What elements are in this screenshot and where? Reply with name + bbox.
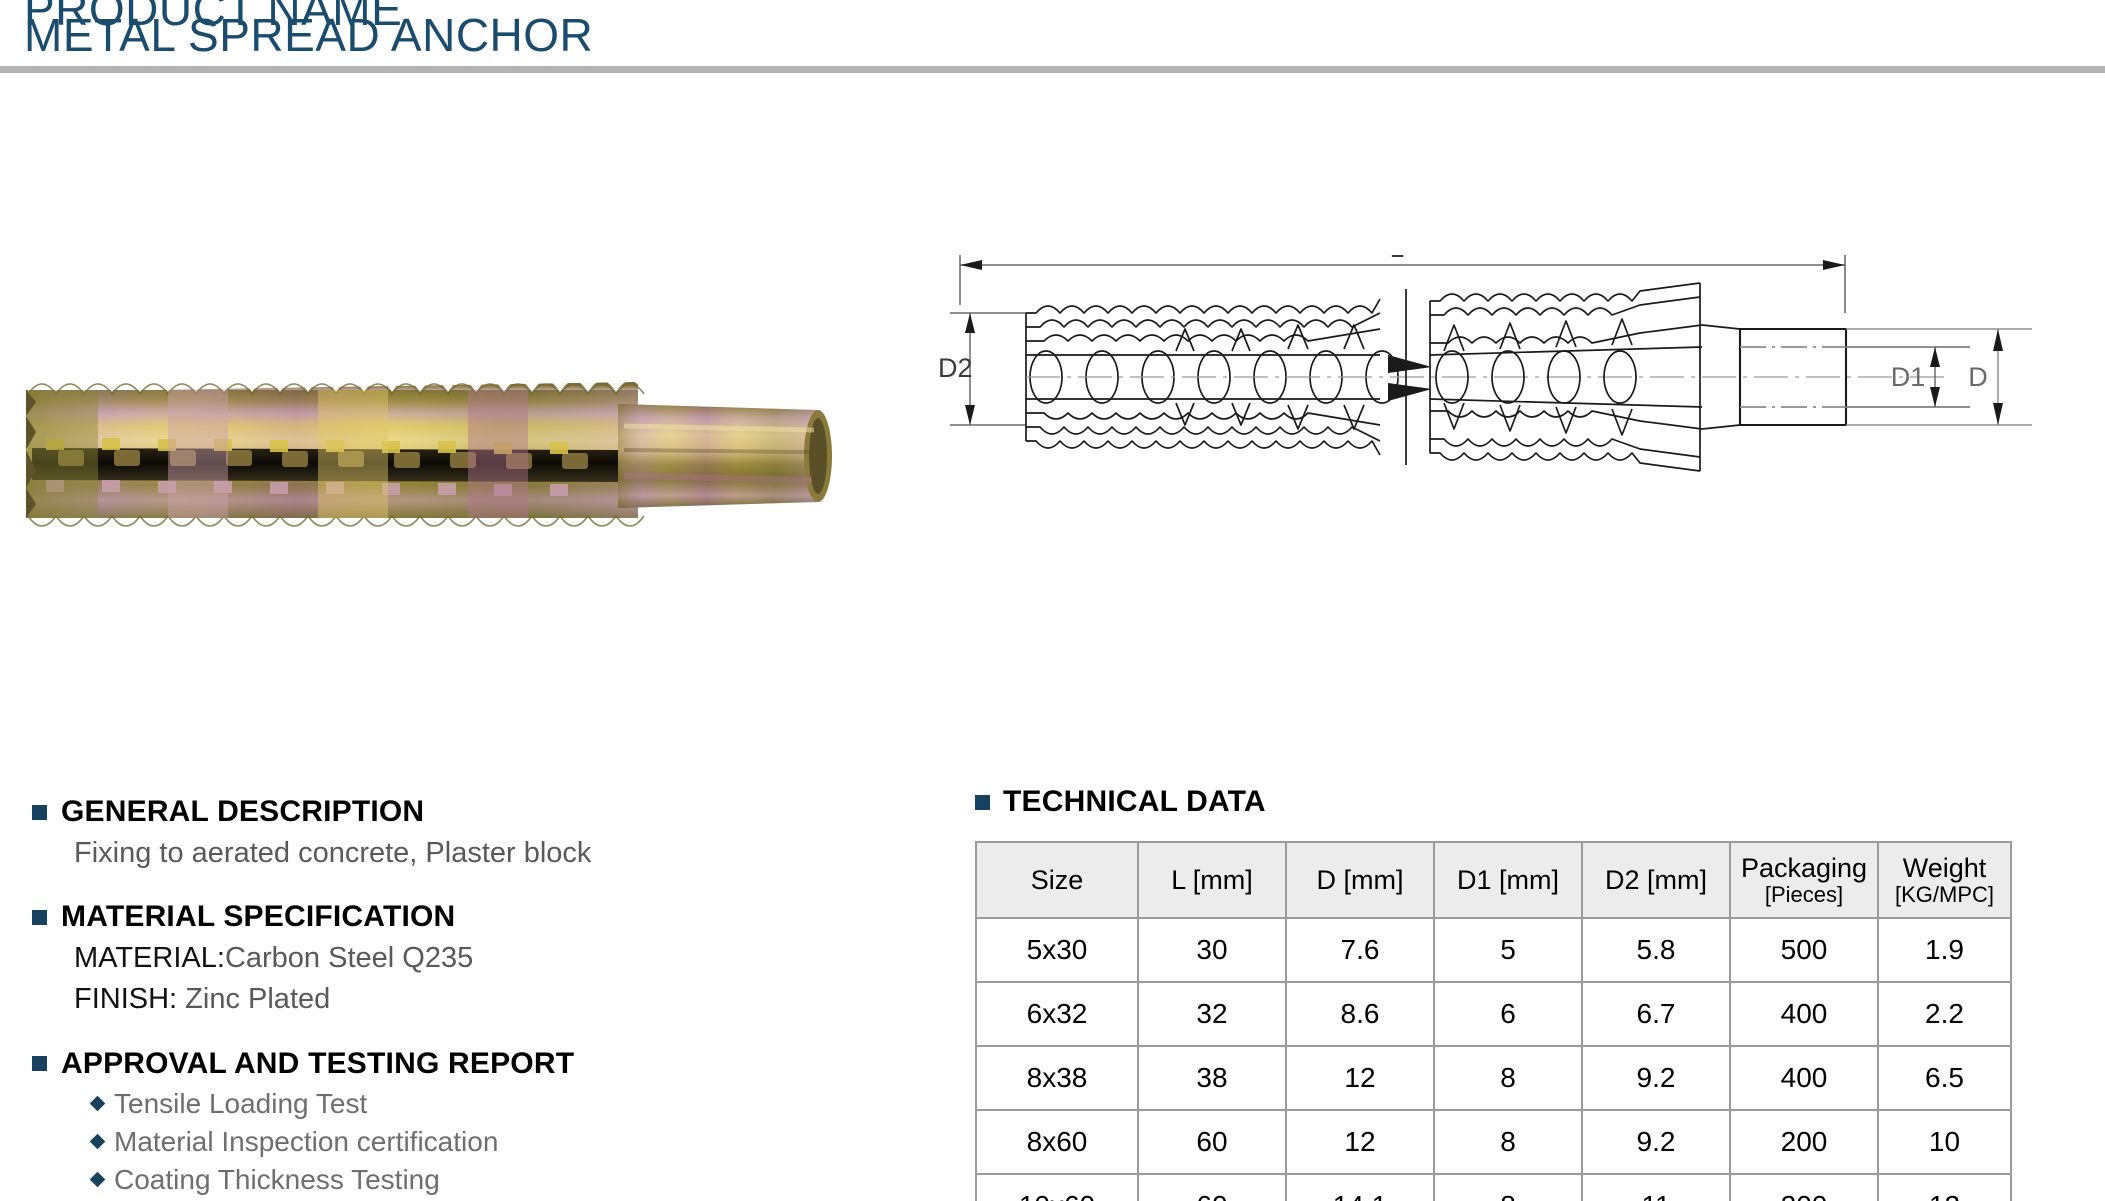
cell-d2: 5.8 (1582, 918, 1730, 982)
section-general-description: GENERAL DESCRIPTION Fixing to aerated co… (32, 795, 912, 874)
diamond-bullet-icon (90, 1172, 106, 1188)
diamond-bullet-icon (90, 1096, 106, 1112)
table-row: 10x60 60 14.1 8 11 200 12 (976, 1174, 2011, 1201)
page-title: METAL SPREAD ANCHOR (24, 8, 593, 62)
cell-l: 38 (1138, 1046, 1286, 1110)
col-header-unit: [Pieces] (1733, 883, 1875, 908)
list-item-label: Material Inspection certification (114, 1123, 498, 1161)
cell-size: 6x32 (976, 982, 1138, 1046)
table-header-row: Size L [mm] D [mm] D1 [mm] D2 [mm] (976, 842, 2011, 918)
cell-d2: 9.2 (1582, 1046, 1730, 1110)
cell-d2: 11 (1582, 1174, 1730, 1201)
section-material-specification: MATERIAL SPECIFICATION MATERIAL:Carbon S… (32, 900, 912, 1020)
cell-l: 32 (1138, 982, 1286, 1046)
square-bullet-icon (32, 805, 47, 820)
material-line: MATERIAL:Carbon Steel Q235 (74, 938, 912, 979)
cell-d1: 5 (1434, 918, 1582, 982)
section-approval-testing: APPROVAL AND TESTING REPORT Tensile Load… (32, 1047, 912, 1199)
cell-size: 8x60 (976, 1110, 1138, 1174)
cell-d2: 9.2 (1582, 1110, 1730, 1174)
section-title: GENERAL DESCRIPTION (61, 795, 424, 829)
cell-packaging: 200 (1730, 1110, 1878, 1174)
section-header: APPROVAL AND TESTING REPORT (32, 1047, 912, 1081)
col-header-packaging: Packaging [Pieces] (1730, 842, 1878, 918)
header-divider (0, 66, 2105, 73)
dim-label-D2: D2 (940, 353, 973, 383)
dim-label-L: L (1390, 255, 1404, 263)
section-title: MATERIAL SPECIFICATION (61, 900, 455, 934)
cell-weight: 2.2 (1878, 982, 2011, 1046)
list-item: Material Inspection certification (92, 1123, 912, 1161)
material-value: Carbon Steel Q235 (225, 942, 473, 974)
diamond-bullet-icon (90, 1134, 106, 1150)
col-header-label: D2 [mm] (1605, 865, 1707, 895)
cell-d: 12 (1286, 1046, 1434, 1110)
square-bullet-icon (32, 910, 47, 925)
col-header-unit: [KG/MPC] (1881, 883, 2008, 908)
col-header-size: Size (976, 842, 1138, 918)
col-header-label: Packaging (1741, 853, 1867, 883)
cell-size: 5x30 (976, 918, 1138, 982)
col-header-d2: D2 [mm] (1582, 842, 1730, 918)
cell-d: 8.6 (1286, 982, 1434, 1046)
table-row: 6x32 32 8.6 6 6.7 400 2.2 (976, 982, 2011, 1046)
list-item-label: Tensile Loading Test (114, 1085, 367, 1123)
square-bullet-icon (32, 1056, 47, 1071)
col-header-label: Size (1031, 865, 1084, 895)
square-bullet-icon (975, 795, 990, 810)
cell-l: 60 (1138, 1110, 1286, 1174)
material-label: MATERIAL: (74, 942, 225, 974)
product-info-column: GENERAL DESCRIPTION Fixing to aerated co… (32, 795, 912, 1199)
cell-l: 60 (1138, 1174, 1286, 1201)
cell-size: 8x38 (976, 1046, 1138, 1110)
finish-label: FINISH: (74, 983, 177, 1015)
finish-line: FINISH: Zinc Plated (74, 979, 912, 1020)
cell-d1: 8 (1434, 1174, 1582, 1201)
cell-weight: 10 (1878, 1110, 2011, 1174)
cell-packaging: 200 (1730, 1174, 1878, 1201)
list-item: Coating Thickness Testing (92, 1161, 912, 1199)
general-description-text: Fixing to aerated concrete, Plaster bloc… (74, 833, 912, 874)
technical-data-header: TECHNICAL DATA (975, 785, 2065, 819)
product-photo (18, 330, 858, 560)
col-header-label: Weight (1903, 853, 1987, 883)
cell-d1: 8 (1434, 1046, 1582, 1110)
cell-packaging: 500 (1730, 918, 1878, 982)
list-item: Tensile Loading Test (92, 1085, 912, 1123)
cell-packaging: 400 (1730, 982, 1878, 1046)
cell-weight: 12 (1878, 1174, 2011, 1201)
cell-d1: 6 (1434, 982, 1582, 1046)
col-header-label: D1 [mm] (1457, 865, 1559, 895)
material-spec-body: MATERIAL:Carbon Steel Q235 FINISH: Zinc … (74, 938, 912, 1020)
section-header: GENERAL DESCRIPTION (32, 795, 912, 829)
cell-d: 7.6 (1286, 918, 1434, 982)
col-header-label: L [mm] (1171, 865, 1253, 895)
col-header-l: L [mm] (1138, 842, 1286, 918)
anchor-body (26, 372, 644, 545)
cell-d1: 8 (1434, 1110, 1582, 1174)
datasheet-page: PRODUCT NAME METAL SPREAD ANCHOR (0, 0, 2105, 1201)
technical-data-table: Size L [mm] D [mm] D1 [mm] D2 [mm] (975, 841, 2012, 1201)
cell-d2: 6.7 (1582, 982, 1730, 1046)
cell-d: 12 (1286, 1110, 1434, 1174)
table-row: 5x30 30 7.6 5 5.8 500 1.9 (976, 918, 2011, 982)
dim-label-D1: D1 (1891, 362, 1926, 392)
anchor-collar (618, 404, 832, 508)
cell-d: 14.1 (1286, 1174, 1434, 1201)
col-header-d1: D1 [mm] (1434, 842, 1582, 918)
col-header-label: D [mm] (1317, 865, 1404, 895)
list-item-label: Coating Thickness Testing (114, 1161, 440, 1199)
technical-data-column: TECHNICAL DATA Size L [mm] D [mm] (975, 785, 2065, 1201)
approval-bullet-list: Tensile Loading Test Material Inspection… (92, 1085, 912, 1199)
technical-drawing: L D2 (940, 255, 2100, 615)
col-header-d: D [mm] (1286, 842, 1434, 918)
table-row: 8x60 60 12 8 9.2 200 10 (976, 1110, 2011, 1174)
cell-l: 30 (1138, 918, 1286, 982)
cell-weight: 1.9 (1878, 918, 2011, 982)
dim-length (960, 255, 1845, 313)
dim-label-D: D (1968, 362, 1988, 392)
cell-packaging: 400 (1730, 1046, 1878, 1110)
technical-data-title: TECHNICAL DATA (1003, 785, 1266, 819)
section-title: APPROVAL AND TESTING REPORT (61, 1047, 574, 1081)
cell-size: 10x60 (976, 1174, 1138, 1201)
table-row: 8x38 38 12 8 9.2 400 6.5 (976, 1046, 2011, 1110)
col-header-weight: Weight [KG/MPC] (1878, 842, 2011, 918)
cell-weight: 6.5 (1878, 1046, 2011, 1110)
finish-value: Zinc Plated (177, 983, 330, 1015)
section-header: MATERIAL SPECIFICATION (32, 900, 912, 934)
